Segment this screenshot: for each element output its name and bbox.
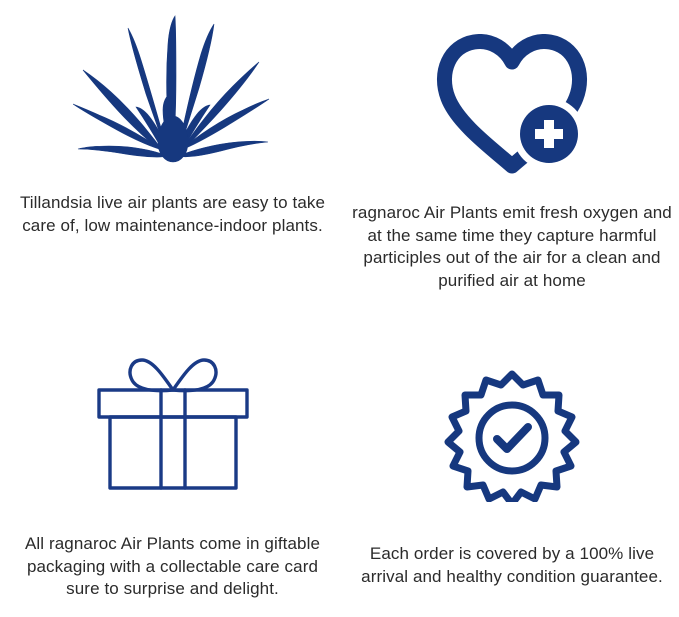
feature-card-fresh-oxygen: ragnaroc Air Plants emit fresh oxygen an… — [345, 0, 679, 308]
air-plant-icon — [73, 0, 273, 164]
feature-caption: Each order is covered by a 100% live arr… — [345, 502, 679, 588]
feature-caption: ragnaroc Air Plants emit fresh oxygen an… — [345, 174, 679, 292]
verified-badge-icon — [444, 320, 580, 502]
feature-grid: Tillandsia live air plants are easy to t… — [0, 0, 679, 617]
feature-card-giftable-packaging: All ragnaroc Air Plants come in giftable… — [0, 308, 345, 617]
feature-card-easy-care: Tillandsia live air plants are easy to t… — [0, 0, 345, 308]
heart-plus-icon — [434, 0, 590, 174]
feature-card-live-arrival-guarantee: Each order is covered by a 100% live arr… — [345, 308, 679, 617]
gift-box-icon — [94, 320, 252, 492]
feature-caption: Tillandsia live air plants are easy to t… — [0, 164, 345, 237]
feature-caption: All ragnaroc Air Plants come in giftable… — [0, 492, 345, 601]
